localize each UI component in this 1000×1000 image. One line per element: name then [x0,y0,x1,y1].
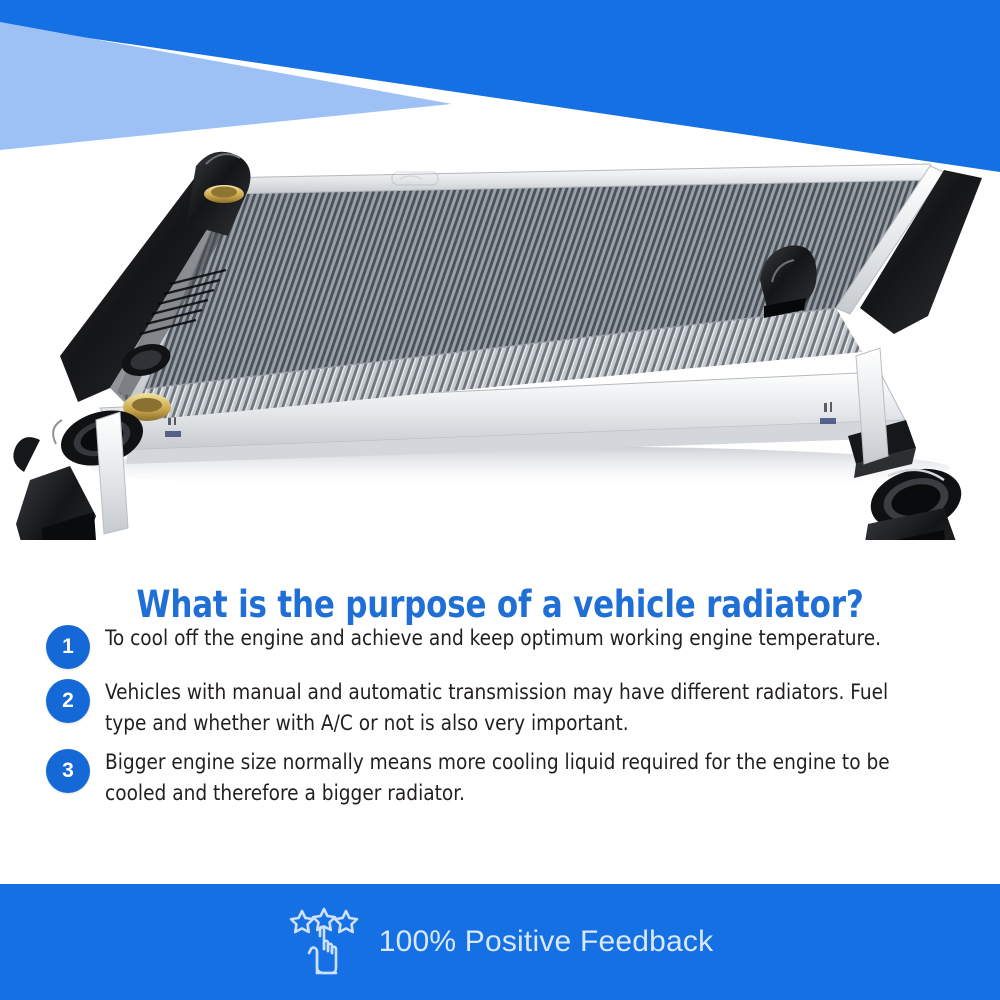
hand-palm [317,952,336,973]
three-stars-hand-pointing-icon [287,905,361,979]
hand-little-finger [332,947,336,967]
star-icon-1 [291,911,313,932]
fact-number-badge: 3 [46,749,90,793]
fact-text: Bigger engine size normally means more c… [105,748,922,809]
fact-number-badge: 1 [46,625,90,669]
footer-banner: 100% Positive Feedback [0,884,1000,1000]
fact-text: Vehicles with manual and automatic trans… [105,678,922,739]
star-icon-3 [335,911,357,932]
feedback-label: 100% Positive Feedback [379,925,714,959]
list-item: 2 Vehicles with manual and automatic tra… [46,678,956,739]
fact-number-badge: 2 [46,679,90,723]
list-item: 1 To cool off the engine and achieve and… [46,624,956,669]
footer-content: 100% Positive Feedback [287,905,714,979]
list-item: 3 Bigger engine size normally means more… [46,748,956,809]
infographic-page: What is the purpose of a vehicle radiato… [0,0,1000,1000]
product-image [0,120,1000,540]
facts-list: 1 To cool off the engine and achieve and… [46,624,956,818]
page-title: What is the purpose of a vehicle radiato… [35,583,965,626]
fact-text: To cool off the engine and achieve and k… [105,624,881,655]
